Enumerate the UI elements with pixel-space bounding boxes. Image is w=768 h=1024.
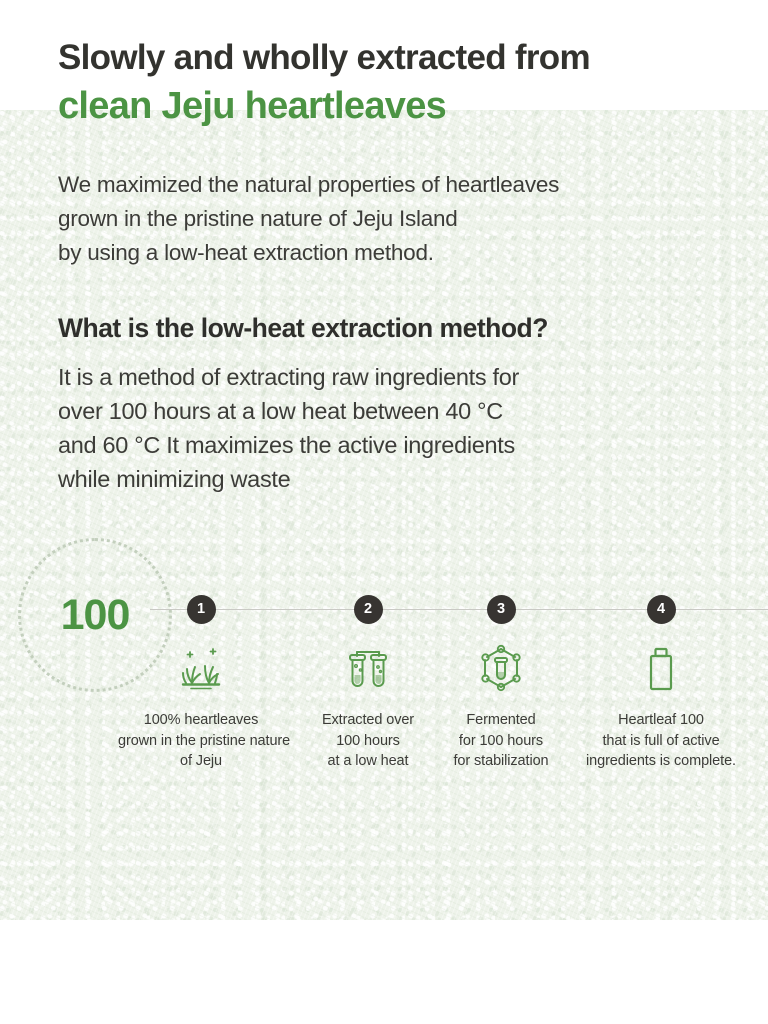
bottle-icon xyxy=(578,640,744,698)
step-caption-1: 100% heartleaves grown in the pristine n… xyxy=(118,710,284,772)
detail-line-2: over 100 hours at a low heat between 40 … xyxy=(58,394,718,428)
intro-paragraph: We maximized the natural properties of h… xyxy=(58,168,708,271)
intro-line-3: by using a low-heat extraction method. xyxy=(58,236,708,270)
intro-line-2: grown in the pristine nature of Jeju Isl… xyxy=(58,202,708,236)
process-step-4: 4 Heartleaf 100 that is full of active i… xyxy=(578,530,744,772)
step-caption-3-line-3: for stabilization xyxy=(418,751,584,772)
process-timeline: 100 1 xyxy=(0,530,768,780)
step-caption-4-line-2: that is full of active xyxy=(578,731,744,752)
step-caption-3-line-1: Fermented xyxy=(418,710,584,731)
step-number-badge-4: 4 xyxy=(647,595,676,624)
hexagon-molecule-vial-icon xyxy=(418,640,584,698)
intro-line-1: We maximized the natural properties of h… xyxy=(58,168,708,202)
step-number-badge-2: 2 xyxy=(354,595,383,624)
page-title: Slowly and wholly extracted from clean J… xyxy=(58,38,718,129)
headline-line-2: clean Jeju heartleaves xyxy=(58,84,718,129)
step-caption-3-line-2: for 100 hours xyxy=(418,731,584,752)
step-caption-4-line-3: ingredients is complete. xyxy=(578,751,744,772)
step-number-badge-3: 3 xyxy=(487,595,516,624)
step-caption-4: Heartleaf 100 that is full of active ing… xyxy=(578,710,744,772)
step-caption-1-line-2: grown in the pristine nature xyxy=(118,731,284,752)
step-number-badge-1: 1 xyxy=(187,595,216,624)
step-caption-1-line-3: of Jeju xyxy=(118,751,284,772)
detail-line-3: and 60 °C It maximizes the active ingred… xyxy=(58,428,718,462)
step-caption-3: Fermented for 100 hours for stabilizatio… xyxy=(418,710,584,772)
grass-sprout-icon xyxy=(118,640,284,698)
step-caption-1-line-1: 100% heartleaves xyxy=(118,710,284,731)
detail-paragraph: It is a method of extracting raw ingredi… xyxy=(58,360,718,496)
detail-line-1: It is a method of extracting raw ingredi… xyxy=(58,360,718,394)
detail-line-4: while minimizing waste xyxy=(58,462,718,496)
section-subheading: What is the low-heat extraction method? xyxy=(58,313,548,344)
headline-line-1: Slowly and wholly extracted from xyxy=(58,38,718,77)
step-caption-4-line-1: Heartleaf 100 xyxy=(578,710,744,731)
process-step-1: 1 xyxy=(118,530,284,772)
process-step-3: 3 xyxy=(418,530,584,772)
